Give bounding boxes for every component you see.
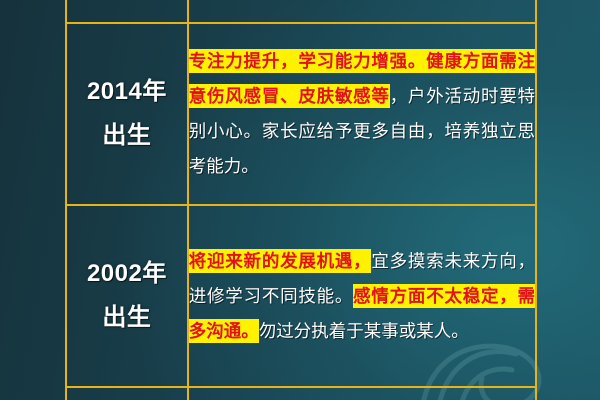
table-row: 2002年 出生 将迎来新的发展机遇，宜多摸索未来方向，进修学习不同技能。感情方…: [66, 205, 536, 387]
year-label-line1: 2002年: [67, 262, 187, 286]
description-cell-2002: 将迎来新的发展机遇，宜多摸索未来方向，进修学习不同技能。感情方面不太稳定，需多沟…: [188, 205, 536, 387]
table-row: 2014年 出生 专注力提升，学习能力增强。健康方面需注意伤风感冒、皮肤敏感等，…: [66, 23, 536, 205]
fortune-table: 2014年 出生 专注力提升，学习能力增强。健康方面需注意伤风感冒、皮肤敏感等，…: [65, 0, 537, 400]
year-cell: [66, 387, 188, 400]
table-row: [66, 387, 536, 400]
year-label-line2: 出生: [67, 124, 187, 148]
year-cell-2014: 2014年 出生: [66, 23, 188, 205]
description-text-2014: 专注力提升，学习能力增强。健康方面需注意伤风感冒、皮肤敏感等，户外活动时要特别小…: [189, 44, 535, 184]
description-text-2002: 将迎来新的发展机遇，宜多摸索未来方向，进修学习不同技能。感情方面不太稳定，需多沟…: [189, 244, 535, 349]
year-cell: [66, 0, 188, 23]
year-label-line2: 出生: [67, 306, 187, 330]
description-cell-2014: 专注力提升，学习能力增强。健康方面需注意伤风感冒、皮肤敏感等，户外活动时要特别小…: [188, 23, 536, 205]
year-cell-2002: 2002年 出生: [66, 205, 188, 387]
poster-canvas: 2014年 出生 专注力提升，学习能力增强。健康方面需注意伤风感冒、皮肤敏感等，…: [0, 0, 600, 400]
description-cell: [188, 0, 536, 23]
description-cell: [188, 387, 536, 400]
year-label-line1: 2014年: [67, 80, 187, 104]
table-row: [66, 0, 536, 23]
highlighted-segment: 将迎来新的发展机遇，: [189, 249, 372, 273]
plain-segment: 勿过分执着于某事或某人。: [259, 321, 469, 341]
